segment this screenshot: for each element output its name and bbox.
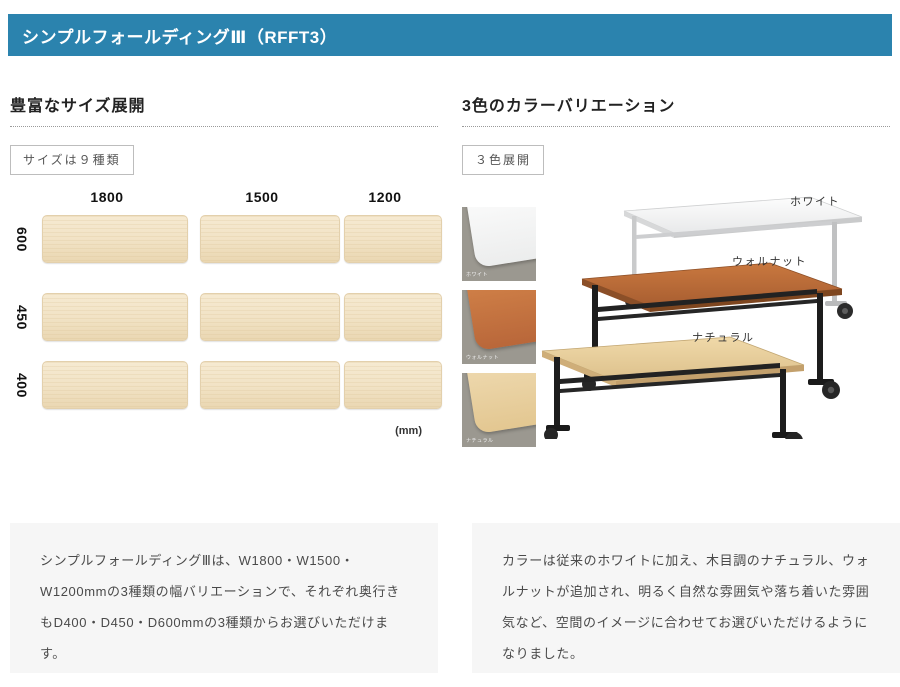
swatch-walnut[interactable]: ウォルナット — [462, 290, 536, 364]
size-row-450: 450 — [10, 293, 434, 341]
size-row-600: 600 — [10, 215, 434, 263]
size-row-400: 400 — [10, 361, 434, 409]
color-description-box: カラーは従来のホワイトに加え、木目調のナチュラル、ウォルナットが追加され、明るく… — [472, 523, 900, 673]
color-heading-divider — [462, 126, 890, 127]
color-variation-display: ホワイト ウォルナット ナチュラル — [462, 189, 890, 439]
width-label-1500: 1500 — [192, 189, 332, 205]
depth-label-600: 600 — [10, 215, 34, 263]
plate-1500x450 — [200, 293, 340, 341]
size-description-box: シンプルフォールディングⅢは、W1800・W1500・W1200mmの3種類の幅… — [10, 523, 438, 673]
size-section-heading: 豊富なサイズ展開 — [10, 92, 438, 126]
swatch-white[interactable]: ホワイト — [462, 207, 536, 281]
plate-1800x600 — [42, 215, 188, 263]
width-label-1800: 1800 — [34, 189, 180, 205]
photo-label-natural: ナチュラル — [692, 329, 755, 345]
swatch-label-white: ホワイト — [466, 271, 488, 278]
size-heading-divider — [10, 126, 438, 127]
color-section-heading: 3色のカラーバリエーション — [462, 92, 890, 126]
width-label-1200: 1200 — [336, 189, 434, 205]
size-description-text: シンプルフォールディングⅢは、W1800・W1500・W1200mmの3種類の幅… — [40, 545, 412, 669]
plate-1200x600 — [344, 215, 442, 263]
plate-1200x400 — [344, 361, 442, 409]
product-photo: ホワイト ウォルナット ナチュラル — [532, 189, 892, 439]
table-corner-icon — [464, 290, 536, 351]
product-title-banner: シンプルフォールディングⅢ（RFFT3） — [8, 14, 892, 56]
depth-label-450: 450 — [10, 293, 34, 341]
table-corner-icon — [464, 373, 536, 434]
plate-1200x450 — [344, 293, 442, 341]
size-count-badge: サイズは９種類 — [10, 145, 134, 175]
photo-label-white: ホワイト — [790, 193, 840, 209]
photo-label-walnut: ウォルナット — [732, 253, 807, 269]
page-title: シンプルフォールディングⅢ（RFFT3） — [8, 23, 337, 48]
swatch-natural[interactable]: ナチュラル — [462, 373, 536, 447]
table-corner-icon — [464, 207, 536, 268]
plate-1500x600 — [200, 215, 340, 263]
size-chart-width-labels: 1800 1500 1200 — [34, 189, 434, 209]
swatch-label-walnut: ウォルナット — [466, 354, 499, 361]
unit-note: (mm) — [395, 425, 422, 437]
plate-1800x450 — [42, 293, 188, 341]
size-chart: 1800 1500 1200 600 450 400 — [10, 189, 438, 439]
plate-1800x400 — [42, 361, 188, 409]
color-swatch-list: ホワイト ウォルナット ナチュラル — [462, 207, 536, 456]
color-description-text: カラーは従来のホワイトに加え、木目調のナチュラル、ウォルナットが追加され、明るく… — [502, 545, 874, 669]
table-natural — [542, 337, 804, 439]
depth-label-400: 400 — [10, 361, 34, 409]
swatch-label-natural: ナチュラル — [466, 437, 494, 444]
color-count-badge: ３色展開 — [462, 145, 544, 175]
plate-1500x400 — [200, 361, 340, 409]
folding-tables-illustration — [532, 189, 892, 439]
